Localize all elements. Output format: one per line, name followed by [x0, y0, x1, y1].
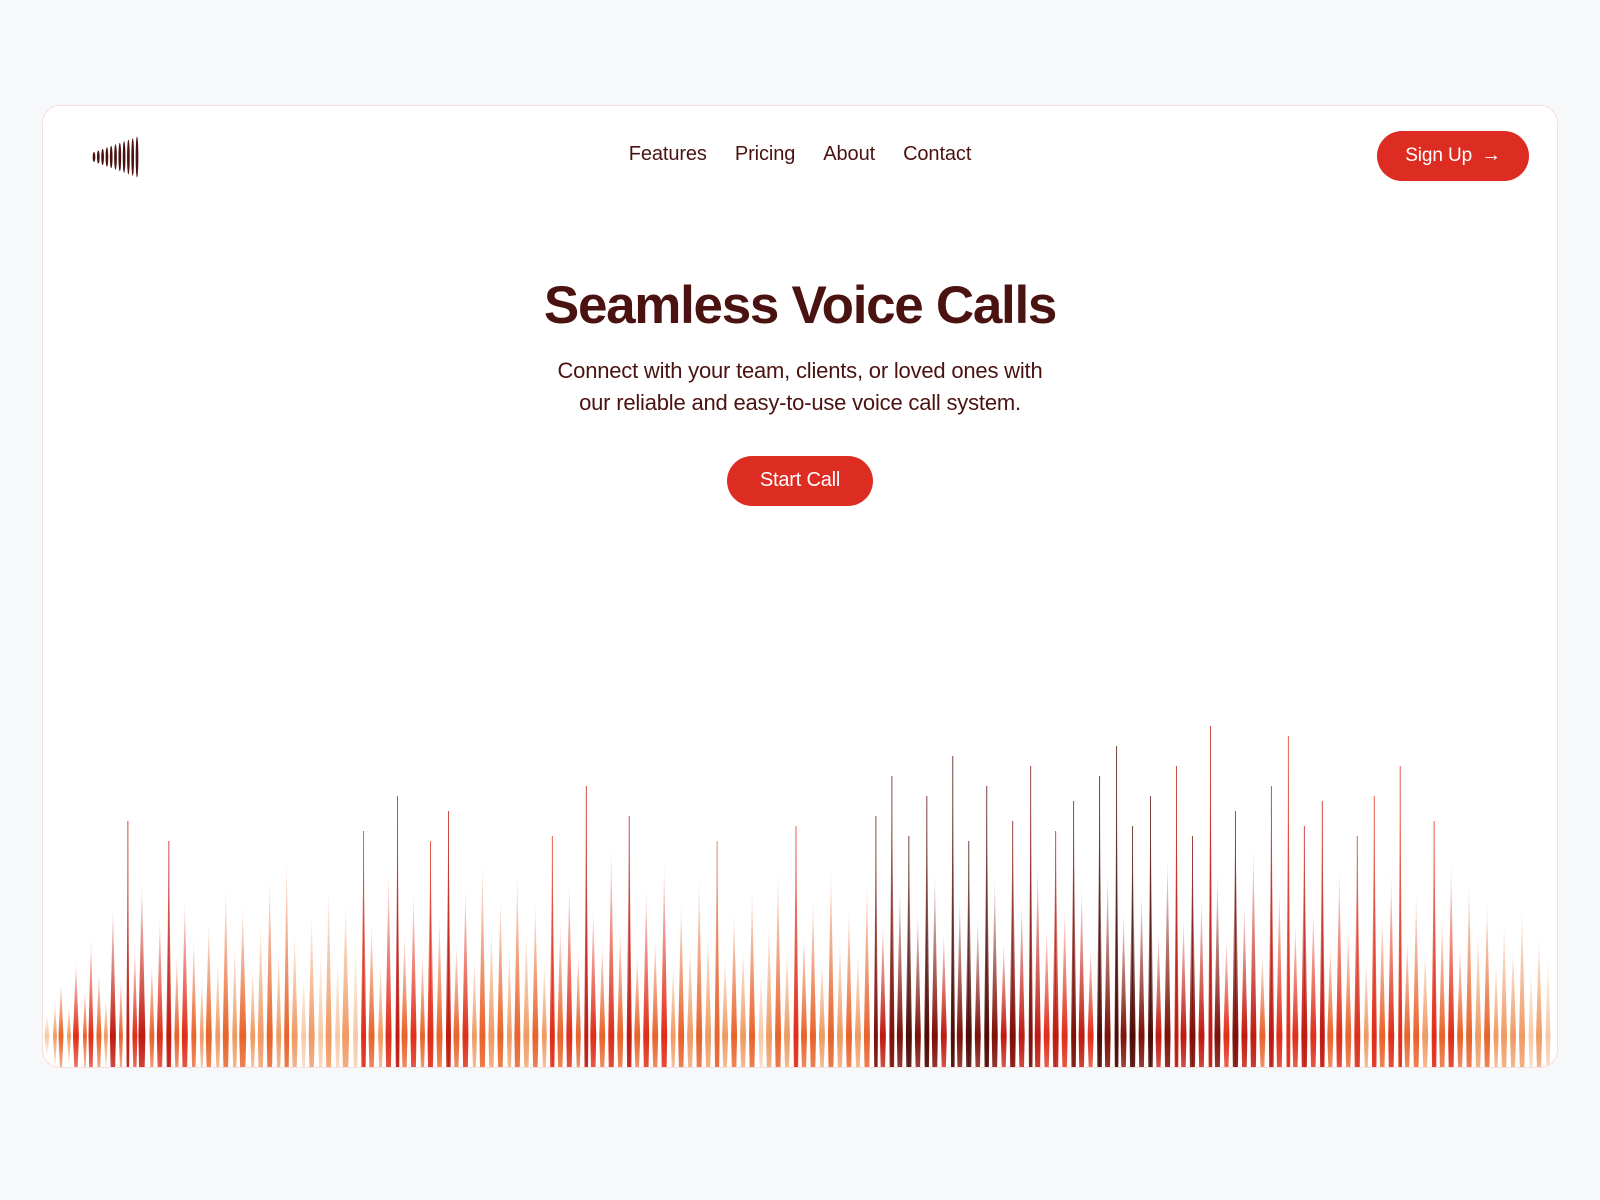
audio-waveform-illustration	[43, 446, 1557, 1068]
page-title: Seamless Voice Calls	[43, 276, 1557, 335]
hero-subtitle-line-1: Connect with your team, clients, or love…	[557, 358, 1042, 383]
nav-link-about[interactable]: About	[809, 140, 889, 168]
start-call-button[interactable]: Start Call	[727, 456, 873, 506]
hero-subtitle-line-2: our reliable and easy-to-use voice call …	[579, 390, 1021, 415]
arrow-right-icon: →	[1481, 145, 1501, 165]
primary-navigation: Features Pricing About Contact	[43, 140, 1557, 168]
nav-link-features[interactable]: Features	[615, 140, 721, 168]
hero-subtitle: Connect with your team, clients, or love…	[43, 355, 1557, 417]
nav-link-contact[interactable]: Contact	[889, 140, 985, 168]
sign-up-label: Sign Up	[1405, 145, 1472, 167]
landing-page-card: Features Pricing About Contact Sign Up →…	[42, 105, 1558, 1068]
hero-section: Seamless Voice Calls Connect with your t…	[43, 276, 1557, 506]
sign-up-button[interactable]: Sign Up →	[1377, 131, 1529, 181]
waveform-canvas	[43, 446, 1557, 1068]
site-header: Features Pricing About Contact Sign Up →	[43, 106, 1557, 211]
nav-link-pricing[interactable]: Pricing	[721, 140, 809, 168]
